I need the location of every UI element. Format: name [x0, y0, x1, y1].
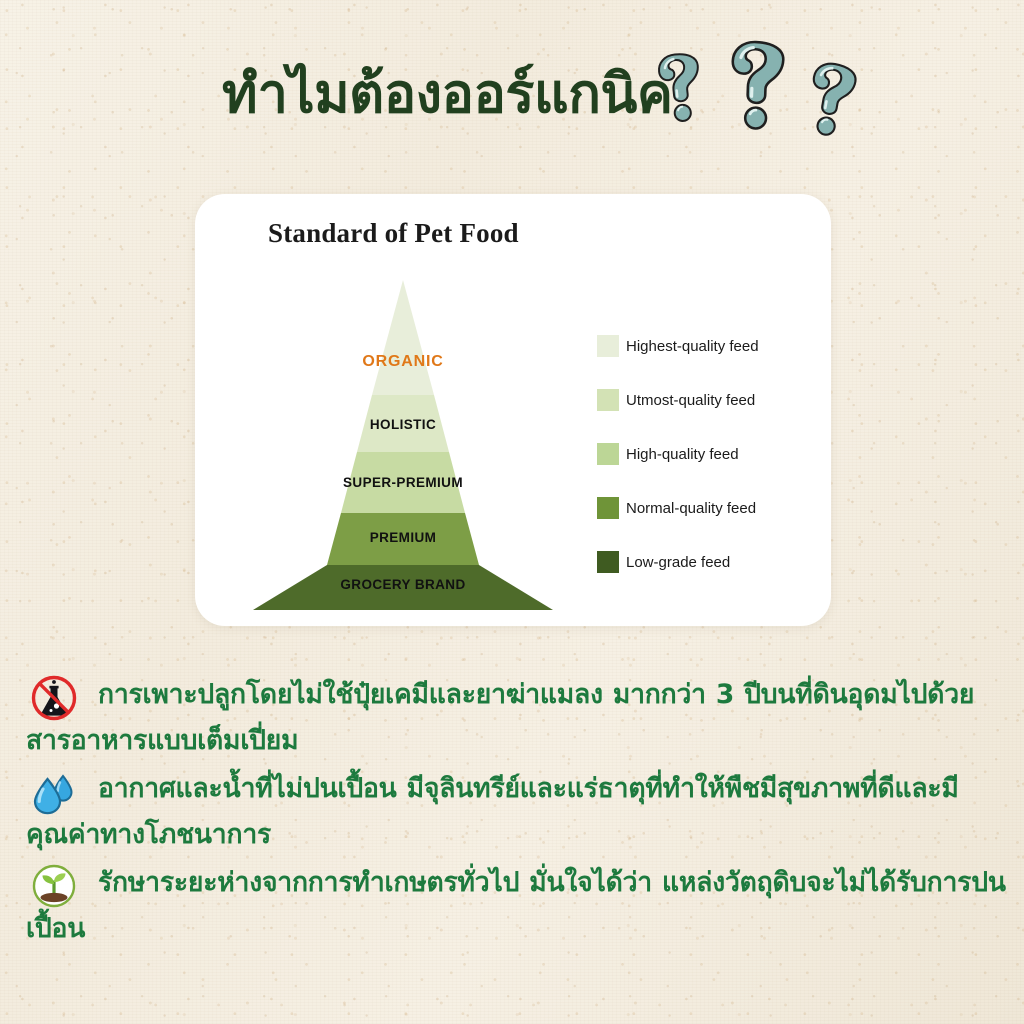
list-item-text: อากาศและน้ำที่ไม่ปนเปื้อน มีจุลินทรีย์แล… [26, 766, 1006, 858]
page-title: ทำไมต้องออร์แกนิค [222, 64, 672, 123]
list-item: การเพาะปลูกโดยไม่ใช้ปุ๋ยเคมีและยาฆ่าแมลง… [26, 672, 1006, 764]
benefits-list: การเพาะปลูกโดยไม่ใช้ปุ๋ยเคมีและยาฆ่าแมลง… [26, 672, 1006, 954]
legend-label: Low-grade feed [626, 554, 730, 571]
legend-label: Utmost-quality feed [626, 392, 755, 409]
legend-label: Normal-quality feed [626, 500, 756, 517]
card-title: Standard of Pet Food [268, 218, 519, 249]
list-item-text: การเพาะปลูกโดยไม่ใช้ปุ๋ยเคมีและยาฆ่าแมลง… [26, 672, 1006, 764]
legend-label: Highest-quality feed [626, 338, 759, 355]
legend-item: Utmost-quality feed [597, 389, 817, 411]
legend: Highest-quality feed Utmost-quality feed… [597, 335, 817, 573]
no-chemicals-icon [26, 674, 82, 722]
pyramid-chart: ORGANIC HOLISTIC SUPER-PREMIUM PREMIUM G… [253, 280, 553, 610]
legend-item: Normal-quality feed [597, 497, 817, 519]
legend-item: Highest-quality feed [597, 335, 817, 357]
legend-item: High-quality feed [597, 443, 817, 465]
pyramid-tier-organic [372, 280, 434, 395]
legend-swatch [597, 335, 619, 357]
pet-food-standard-card: Standard of Pet Food ORGANIC HOLISTIC SU… [195, 194, 831, 626]
pyramid-label-organic: ORGANIC [253, 353, 553, 371]
question-marks-icon [650, 24, 890, 154]
pyramid-label-premium: PREMIUM [253, 530, 553, 545]
list-item: อากาศและน้ำที่ไม่ปนเปื้อน มีจุลินทรีย์แล… [26, 766, 1006, 858]
pyramid-label-holistic: HOLISTIC [253, 417, 553, 432]
header: ทำไมต้องออร์แกนิค [0, 52, 1024, 162]
list-item: รักษาระยะห่างจากการทำเกษตรทั่วไป มั่นใจไ… [26, 860, 1006, 952]
legend-swatch [597, 443, 619, 465]
water-droplets-icon [26, 768, 82, 816]
seedling-icon [26, 862, 82, 910]
pyramid-svg [253, 280, 553, 610]
pyramid-label-super-premium: SUPER-PREMIUM [253, 475, 553, 490]
legend-swatch [597, 497, 619, 519]
legend-label: High-quality feed [626, 446, 739, 463]
list-item-text: รักษาระยะห่างจากการทำเกษตรทั่วไป มั่นใจไ… [26, 860, 1006, 952]
legend-swatch [597, 389, 619, 411]
legend-swatch [597, 551, 619, 573]
pyramid-label-grocery-brand: GROCERY BRAND [253, 577, 553, 592]
legend-item: Low-grade feed [597, 551, 817, 573]
